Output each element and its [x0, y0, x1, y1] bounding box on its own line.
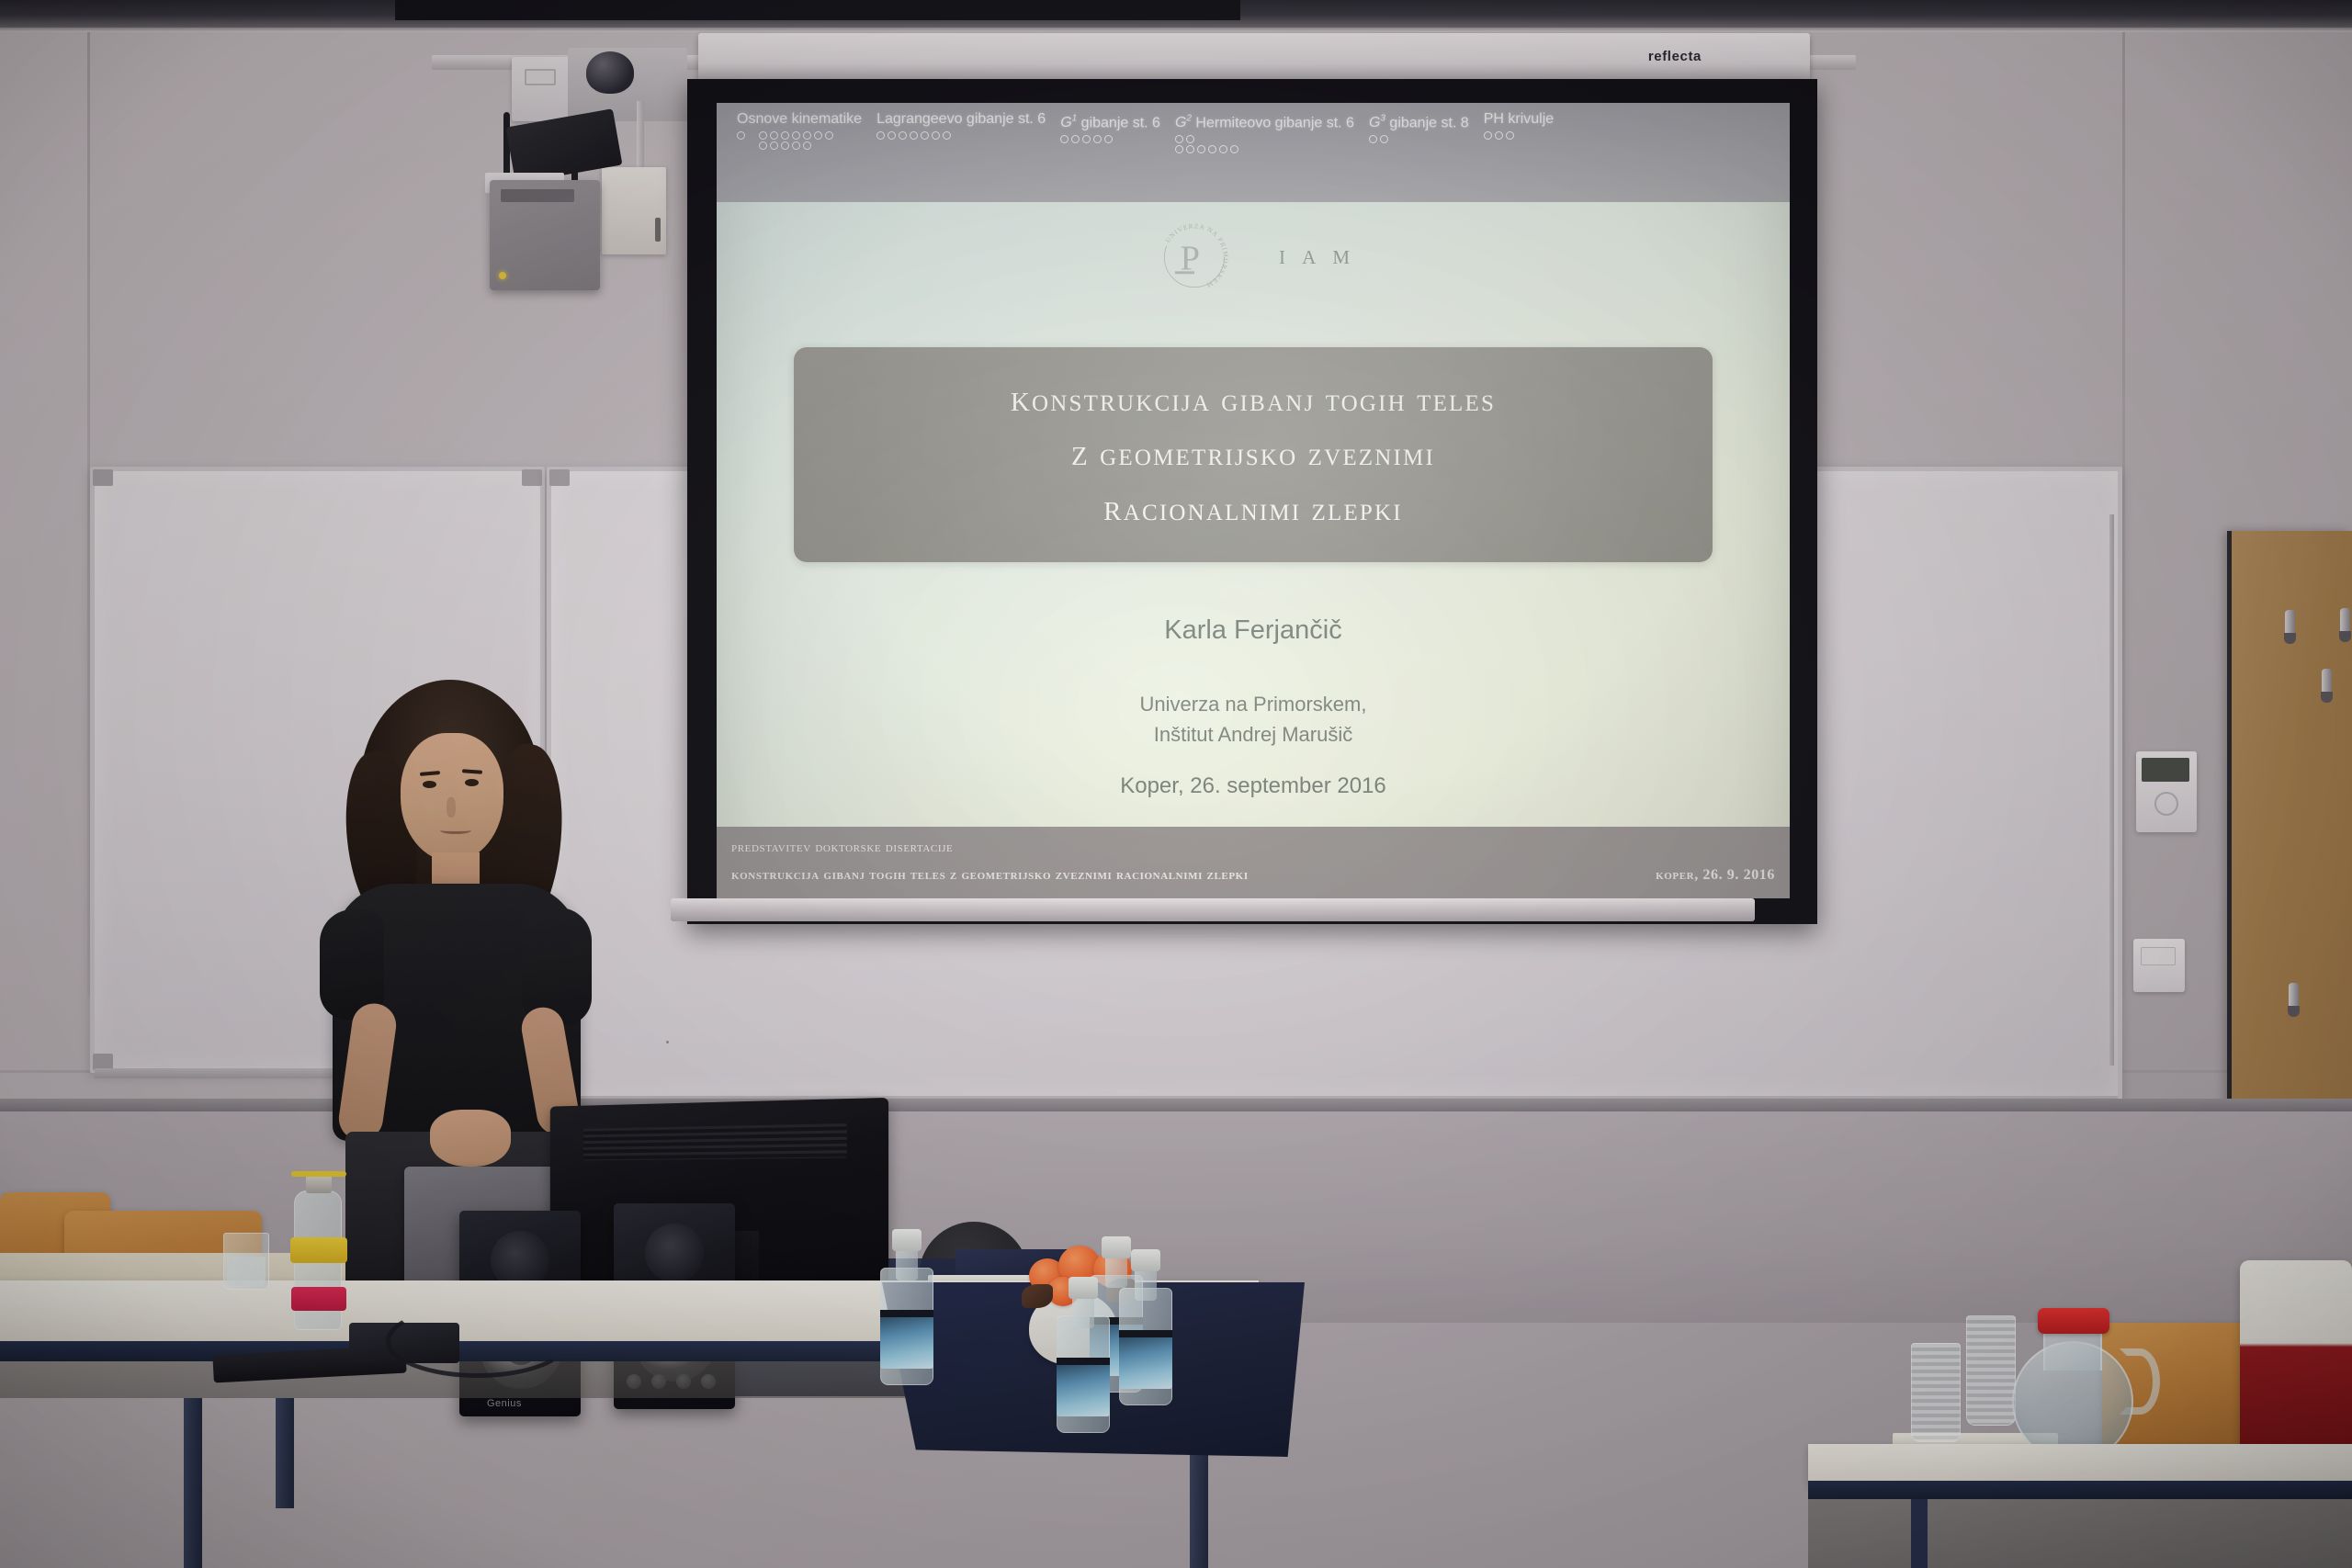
projected-slide: Osnove kinematike Lagrangeevo gibanje	[717, 103, 1790, 898]
nav-dot[interactable]	[1495, 131, 1503, 140]
institute-abbreviation: I A M	[1279, 246, 1356, 269]
nav-dot[interactable]	[803, 131, 811, 140]
nav-symbol: G	[1369, 115, 1380, 130]
coat-hook-2[interactable]	[2322, 669, 2332, 696]
presenter-mouth	[440, 827, 471, 834]
nav-section-osnove-kinematike[interactable]: Osnove kinematike	[729, 110, 869, 150]
bottle-neck	[896, 1247, 918, 1280]
nav-dot[interactable]	[1060, 135, 1069, 143]
nav-section-g1-gibanje[interactable]: G1 gibanje st. 6	[1053, 110, 1168, 143]
box-slot	[655, 218, 661, 242]
presenter-hands	[430, 1110, 511, 1167]
bottle-neck	[1135, 1268, 1157, 1301]
slide-navigation-bar: Osnove kinematike Lagrangeevo gibanje	[717, 103, 1790, 202]
nav-dot-row	[1369, 135, 1469, 143]
nav-dot[interactable]	[876, 131, 885, 140]
nav-section-g3-gibanje[interactable]: G3 gibanje st. 8	[1362, 110, 1476, 143]
nav-section-label: G3 gibanje st. 8	[1369, 110, 1469, 132]
whiteboard-smudge	[666, 1041, 669, 1043]
university-logo-block: UNIVERZA NA PRIMORSKEM P I A M	[717, 213, 1790, 301]
bottle-label	[1119, 1336, 1172, 1389]
affiliation-line-1: Univerza na Primorskem,	[717, 689, 1790, 719]
bottle-neck-ring	[291, 1171, 346, 1177]
water-bottle-1[interactable]	[880, 1229, 933, 1385]
nav-dots-group	[1175, 135, 1354, 153]
nav-dot[interactable]	[781, 131, 789, 140]
nav-dot[interactable]	[770, 131, 778, 140]
nav-dot-row	[876, 131, 1046, 140]
bottle-neck	[1072, 1295, 1094, 1328]
wall-conduit	[2109, 514, 2114, 1066]
speaker-brand-label: Genius	[487, 1398, 522, 1409]
socket-plug	[525, 69, 556, 85]
nav-section-label: PH krivulje	[1484, 110, 1554, 129]
nav-dot[interactable]	[943, 131, 951, 140]
coat-hook-4[interactable]	[2289, 983, 2299, 1010]
nav-dot[interactable]	[1186, 135, 1194, 143]
nav-dot[interactable]	[1208, 145, 1216, 153]
nav-dot[interactable]	[1175, 135, 1183, 143]
presenter-eye-right	[465, 779, 479, 786]
slide-affiliation: Univerza na Primorskem, Inštitut Andrej …	[717, 689, 1790, 750]
whiteboard-corner-tl	[93, 469, 113, 486]
ceiling-cornice	[0, 28, 2352, 32]
nav-section-label: Lagrangeevo gibanje st. 6	[876, 110, 1046, 129]
slide-footer-row-1: Predstavitev doktorske disertacije	[731, 834, 1775, 862]
classroom-photo: reflecta Osnove kinematike	[0, 0, 2352, 1568]
desk-leg-1	[184, 1398, 202, 1568]
nav-dot[interactable]	[770, 141, 778, 150]
nav-dot[interactable]	[1219, 145, 1227, 153]
nav-dots-group	[876, 131, 1046, 140]
nav-dot-row	[1060, 135, 1160, 143]
plastic-cup[interactable]	[223, 1233, 269, 1290]
nav-dot[interactable]	[1369, 135, 1377, 143]
nav-dot[interactable]	[1082, 135, 1091, 143]
nav-dot[interactable]	[1093, 135, 1102, 143]
bottle-cap-icon	[1131, 1249, 1160, 1271]
slide-title-line-1: Konstrukcija gibanj togih teles	[821, 371, 1685, 425]
access-point-band	[501, 189, 574, 202]
affiliation-line-2: Inštitut Andrej Marušič	[717, 719, 1790, 750]
bottle-cap-icon	[892, 1229, 922, 1251]
nav-section-g2-hermiteovo[interactable]: G2 Hermiteovo gibanje st. 6	[1168, 110, 1362, 153]
nav-dot[interactable]	[1186, 145, 1194, 153]
ceiling-dark-panel	[395, 0, 1240, 20]
slide-title-plate: Konstrukcija gibanj togih teles z geomet…	[794, 347, 1713, 562]
presenter-sleeve-right	[522, 908, 592, 1025]
nav-dot[interactable]	[759, 141, 767, 150]
nav-dot[interactable]	[792, 131, 800, 140]
cable-loop	[386, 1304, 570, 1378]
wall-mounted-box[interactable]	[602, 167, 666, 254]
nav-symbol: G	[1060, 115, 1071, 130]
light-switch-rocker[interactable]	[2141, 947, 2176, 965]
nav-section-label: Osnove kinematike	[737, 110, 862, 129]
monitor-vent	[583, 1123, 847, 1160]
nav-dot[interactable]	[814, 131, 822, 140]
nav-dot[interactable]	[1175, 145, 1183, 153]
nav-dot[interactable]	[1230, 145, 1238, 153]
nav-dot[interactable]	[899, 131, 907, 140]
nav-dot[interactable]	[759, 131, 767, 140]
nav-section-label: G1 gibanje st. 6	[1060, 110, 1160, 132]
nav-symbol: G	[1175, 115, 1186, 130]
side-table-leg	[1911, 1499, 1928, 1568]
nav-section-label: G2 Hermiteovo gibanje st. 6	[1175, 110, 1354, 132]
nav-dot[interactable]	[888, 131, 896, 140]
wall-socket[interactable]	[512, 57, 571, 121]
cup-stack-2[interactable]	[1966, 1315, 2016, 1426]
water-bottle-2[interactable]	[1057, 1277, 1110, 1433]
water-bottle-3[interactable]	[1119, 1249, 1172, 1405]
nav-superscript: 1	[1072, 114, 1078, 124]
nav-dot[interactable]	[921, 131, 929, 140]
presenter-eye-left	[423, 781, 436, 788]
flower-leaf	[1022, 1284, 1053, 1308]
nav-dot[interactable]	[781, 141, 789, 150]
nav-superscript: 3	[1380, 114, 1385, 124]
bottle-label	[880, 1315, 933, 1369]
nav-dots-group	[737, 131, 862, 150]
nav-dot-spacer	[748, 131, 756, 140]
nav-dot[interactable]	[910, 131, 918, 140]
slide-author: Karla Ferjančič	[717, 615, 1790, 646]
presenter-nose	[447, 797, 456, 818]
nav-section-ph-krivulje[interactable]: PH krivulje	[1476, 110, 1561, 140]
cup-stack-1[interactable]	[1911, 1343, 1961, 1442]
thermostat[interactable]	[2136, 751, 2197, 832]
bottle-cap-icon	[306, 1175, 332, 1193]
speaker-tweeter-icon	[645, 1224, 704, 1282]
cooler-box[interactable]	[2240, 1260, 2352, 1449]
glass-bottle[interactable]	[294, 1190, 342, 1330]
slide-footer-title: Konstrukcija gibanj togih teles z geomet…	[731, 862, 1249, 889]
nav-superscript: 2	[1186, 114, 1192, 124]
projector-dome-icon	[586, 51, 634, 94]
slide-date: Koper, 26. september 2016	[717, 773, 1790, 799]
nav-section-label-text: gibanje st. 8	[1389, 115, 1468, 130]
nav-dot-row	[1175, 145, 1354, 153]
slide-footer-date: Koper, 26. 9. 2016	[1656, 862, 1775, 889]
nav-dots-group	[1484, 131, 1554, 140]
projection-screen-bottom-bar	[671, 898, 1755, 921]
nav-dot[interactable]	[1104, 135, 1113, 143]
wifi-access-point	[490, 180, 600, 290]
nav-dot[interactable]	[825, 131, 833, 140]
nav-dot-row	[737, 131, 862, 140]
wall-seam-right	[2122, 32, 2125, 997]
nav-section-label-text: Hermiteovo gibanje st. 6	[1195, 115, 1354, 130]
university-logo-icon: UNIVERZA NA PRIMORSKEM P	[1150, 213, 1238, 301]
nav-dot[interactable]	[1484, 131, 1492, 140]
bottle-cap-icon	[1069, 1277, 1098, 1299]
nav-dot[interactable]	[1197, 145, 1205, 153]
nav-section-lagrangeevo[interactable]: Lagrangeevo gibanje st. 6	[869, 110, 1053, 140]
side-table-apron	[1808, 1499, 2352, 1568]
nav-dot-row	[1484, 131, 1554, 140]
whiteboard-corner-tr	[522, 469, 542, 486]
slide-title-line-2: z geometrijsko zveznimi	[821, 425, 1685, 479]
status-led-icon	[499, 272, 506, 279]
nav-dots-group	[1060, 135, 1160, 143]
water-pitcher[interactable]	[2012, 1308, 2154, 1462]
desk-leg-3	[276, 1398, 294, 1508]
coat-hook-3[interactable]	[2340, 608, 2350, 636]
slide-footer-row-2: Konstrukcija gibanj togih teles z geomet…	[731, 862, 1775, 889]
nav-dot-row	[759, 141, 862, 150]
slide-footer: Predstavitev doktorske disertacije Konst…	[717, 827, 1790, 898]
bottle-band-pink	[291, 1287, 346, 1311]
nav-dot[interactable]	[1506, 131, 1514, 140]
screen-brand-label: reflecta	[1648, 49, 1702, 64]
nav-dot[interactable]	[932, 131, 940, 140]
nav-dot[interactable]	[792, 141, 800, 150]
nav-dot-row	[1175, 135, 1354, 143]
side-table-edge	[1808, 1481, 2352, 1499]
side-table-top	[1808, 1444, 2352, 1484]
thermostat-display	[2142, 758, 2189, 782]
slide-footer-subtitle: Predstavitev doktorske disertacije	[731, 834, 953, 862]
coat-hook-1[interactable]	[2285, 610, 2295, 637]
nav-dot[interactable]	[737, 131, 745, 140]
projection-screen: Osnove kinematike Lagrangeevo gibanje	[687, 79, 1817, 924]
nav-section-label-text: gibanje st. 6	[1081, 115, 1160, 130]
slide-title-line-3: racionalnimi zlepki	[821, 480, 1685, 535]
thermostat-knob[interactable]	[2154, 792, 2178, 816]
bottle-band-yellow	[290, 1237, 347, 1263]
pitcher-lid[interactable]	[2038, 1308, 2109, 1334]
projection-screen-housing: reflecta	[698, 33, 1810, 85]
whiteboard-corner-tl-2	[549, 469, 570, 486]
nav-dot[interactable]	[1071, 135, 1080, 143]
light-switch[interactable]	[2133, 939, 2185, 992]
nav-dots-group	[1369, 135, 1469, 143]
nav-dot[interactable]	[1380, 135, 1388, 143]
nav-dot[interactable]	[803, 141, 811, 150]
bottle-label	[1057, 1363, 1110, 1416]
